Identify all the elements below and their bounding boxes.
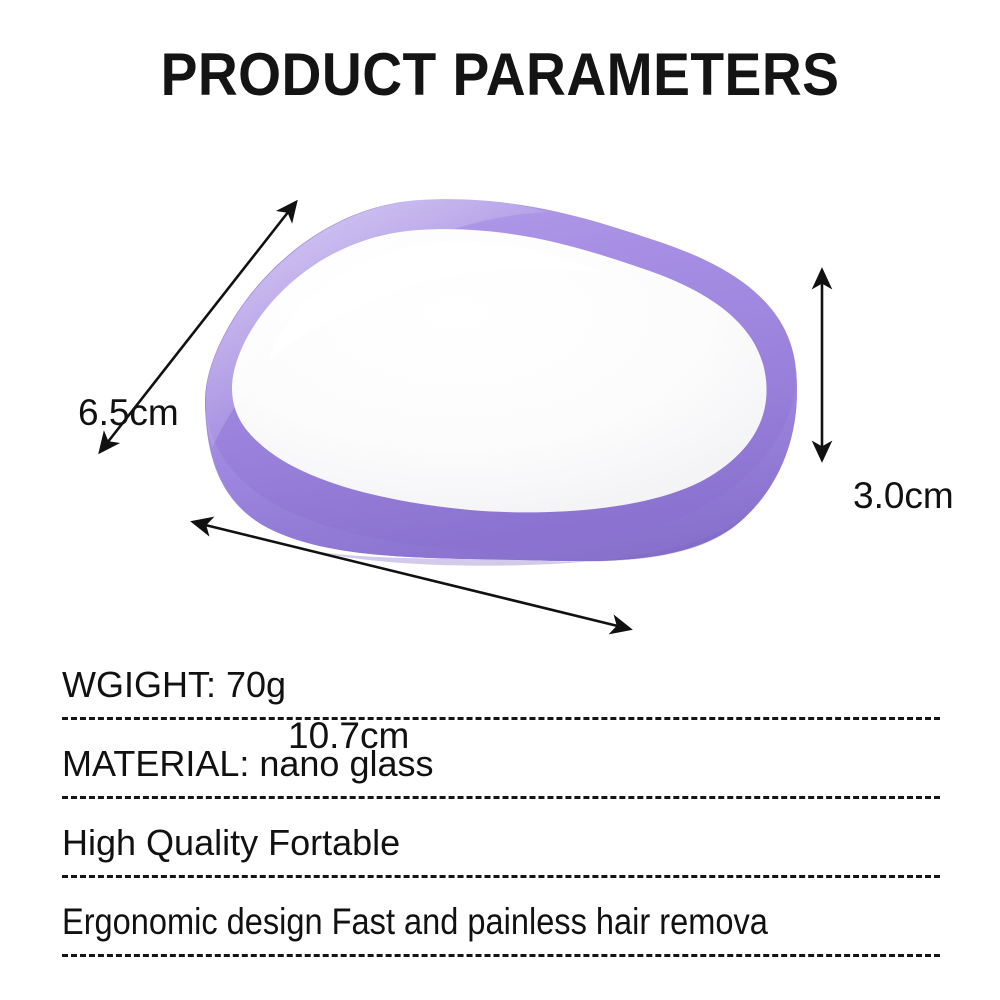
spec-text-quality: High Quality Fortable <box>62 815 940 875</box>
page-title: PRODUCT PARAMETERS <box>40 42 960 108</box>
product-illustration <box>0 130 1000 650</box>
spec-divider <box>62 875 940 878</box>
product-hero: 6.5cm 3.0cm 10.7cm <box>0 130 1000 650</box>
spec-row-material: MATERIAL: nano glass <box>62 736 940 799</box>
product-body <box>205 199 797 566</box>
spec-row-ergonomic: Ergonomic design Fast and painless hair … <box>62 894 940 957</box>
spec-divider <box>62 717 940 720</box>
dimension-label-height: 3.0cm <box>853 475 954 517</box>
spec-list: WGIGHT: 70g MATERIAL: nano glass High Qu… <box>62 655 940 973</box>
spec-row-quality: High Quality Fortable <box>62 815 940 878</box>
dimension-label-depth: 6.5cm <box>78 392 179 434</box>
spec-row-weight: WGIGHT: 70g <box>62 655 940 720</box>
spec-text-ergonomic: Ergonomic design Fast and painless hair … <box>62 894 835 954</box>
spec-text-material: MATERIAL: nano glass <box>62 736 940 796</box>
spec-divider <box>62 796 940 799</box>
spec-text-weight: WGIGHT: 70g <box>62 655 940 717</box>
spec-divider <box>62 954 940 957</box>
